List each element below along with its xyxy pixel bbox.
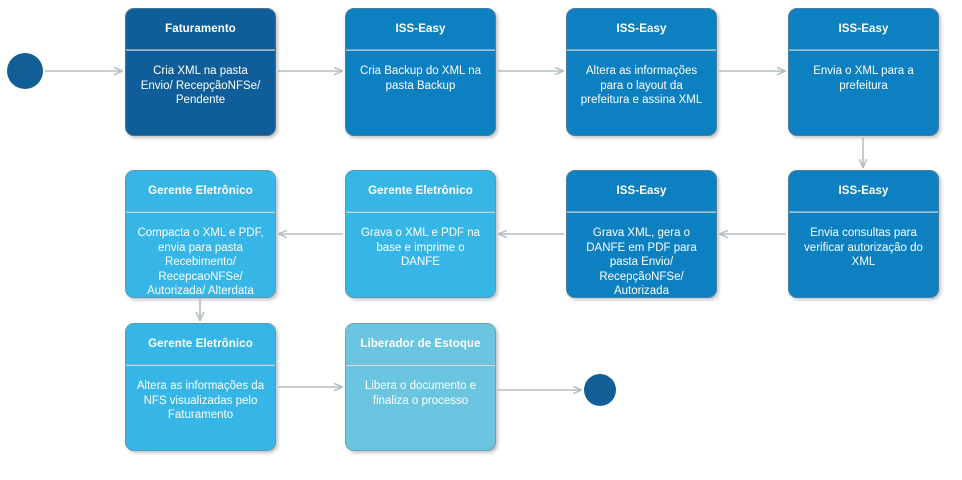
process-node-gerente-compacta[interactable]: Gerente Eletrônico Compacta o XML e PDF,… (125, 170, 276, 298)
process-node-isseasy-grava-danfe[interactable]: ISS-Easy Grava XML, gera o DANFE em PDF … (566, 170, 717, 298)
process-node-faturamento-cria-xml[interactable]: Faturamento Cria XML na pasta Envio/ Rec… (125, 8, 276, 136)
process-node-liberador-estoque[interactable]: Liberador de Estoque Libera o documento … (345, 323, 496, 451)
node-lane-label: ISS-Easy (789, 9, 938, 49)
start-node[interactable] (7, 53, 43, 89)
node-lane-label: Gerente Eletrônico (126, 324, 275, 364)
node-lane-label: ISS-Easy (789, 171, 938, 211)
process-node-isseasy-altera-layout[interactable]: ISS-Easy Altera as informações para o la… (566, 8, 717, 136)
node-text: Altera as informações da NFS visualizada… (126, 366, 275, 450)
process-node-isseasy-consultas[interactable]: ISS-Easy Envia consultas para verificar … (788, 170, 939, 298)
node-lane-label: Liberador de Estoque (346, 324, 495, 364)
node-lane-label: Faturamento (126, 9, 275, 49)
node-lane-label: ISS-Easy (567, 171, 716, 211)
node-lane-label: Gerente Eletrônico (126, 171, 275, 211)
node-text: Cria Backup do XML na pasta Backup (346, 51, 495, 135)
node-lane-label: ISS-Easy (567, 9, 716, 49)
node-text: Grava XML, gera o DANFE em PDF para past… (567, 213, 716, 298)
node-lane-label: ISS-Easy (346, 9, 495, 49)
process-node-isseasy-envia-prefeitura[interactable]: ISS-Easy Envia o XML para a prefeitura (788, 8, 939, 136)
node-text: Grava o XML e PDF na base e imprime o DA… (346, 213, 495, 297)
node-text: Cria XML na pasta Envio/ RecepçãoNFSe/ P… (126, 51, 275, 135)
node-text: Altera as informações para o layout da p… (567, 51, 716, 135)
node-text: Compacta o XML e PDF, envia para pasta R… (126, 213, 275, 298)
process-node-isseasy-backup[interactable]: ISS-Easy Cria Backup do XML na pasta Bac… (345, 8, 496, 136)
process-node-gerente-altera-nfs[interactable]: Gerente Eletrônico Altera as informações… (125, 323, 276, 451)
node-text: Envia o XML para a prefeitura (789, 51, 938, 135)
end-node[interactable] (584, 374, 616, 406)
flowchart-canvas: Faturamento Cria XML na pasta Envio/ Rec… (0, 0, 962, 480)
process-node-gerente-grava-base[interactable]: Gerente Eletrônico Grava o XML e PDF na … (345, 170, 496, 298)
node-text: Libera o documento e finaliza o processo (346, 366, 495, 450)
node-text: Envia consultas para verificar autorizaç… (789, 213, 938, 297)
node-lane-label: Gerente Eletrônico (346, 171, 495, 211)
